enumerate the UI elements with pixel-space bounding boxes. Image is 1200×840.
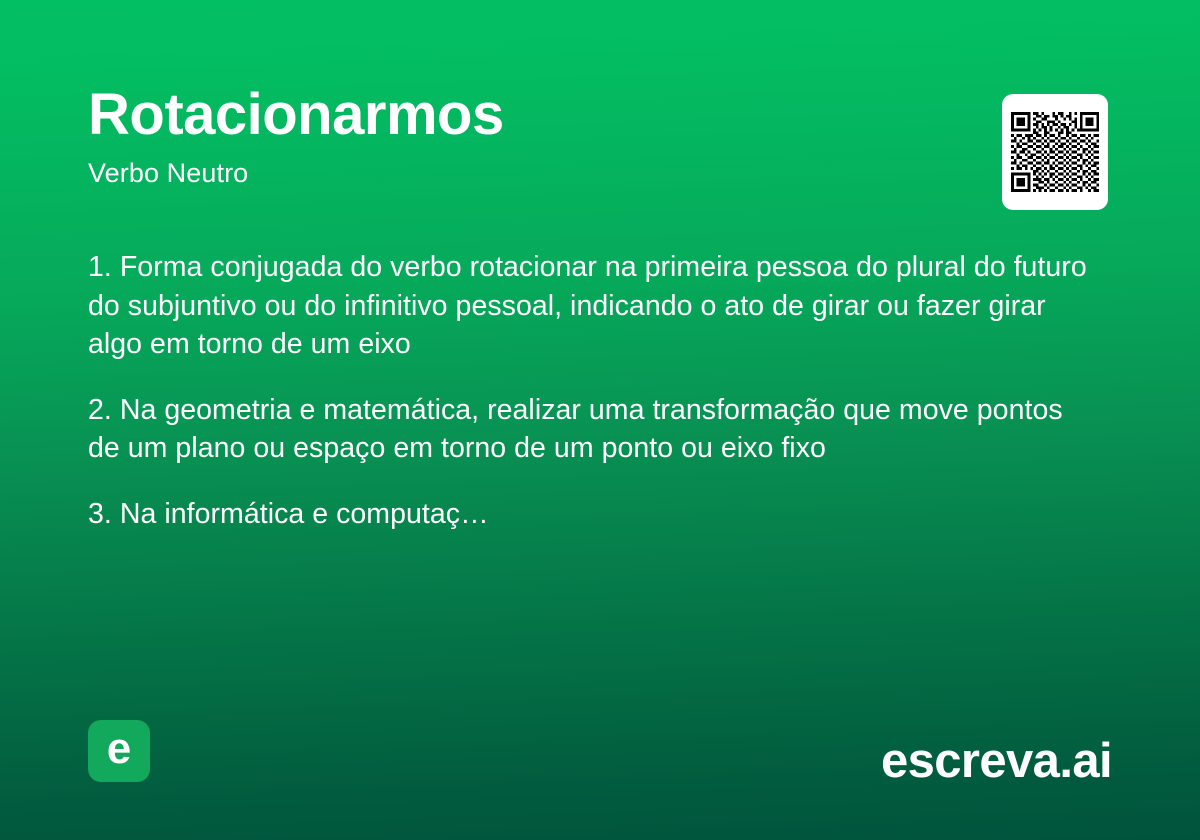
brand-logo-mark: e <box>88 720 150 782</box>
definition-list: 1. Forma conjugada do verbo rotacionar n… <box>88 248 1100 533</box>
definition-item: 1. Forma conjugada do verbo rotacionar n… <box>88 248 1100 364</box>
word-class-label: Verbo Neutro <box>88 160 1112 187</box>
card-header: Rotacionarmos Verbo Neutro <box>88 86 1112 187</box>
definition-item: 3. Na informática e computaç… <box>88 495 1100 534</box>
definition-item: 2. Na geometria e matemática, realizar u… <box>88 391 1100 468</box>
qr-code-icon <box>1011 108 1099 196</box>
qr-code-card[interactable] <box>1002 94 1108 210</box>
brand-logo-glyph: e <box>107 727 131 771</box>
page-title: Rotacionarmos <box>88 86 1112 144</box>
brand-wordmark: escreva.ai <box>881 737 1112 786</box>
card-footer: e escreva.ai <box>0 700 1200 840</box>
dictionary-card: Rotacionarmos Verbo Neutro 1. Forma conj… <box>0 0 1200 840</box>
